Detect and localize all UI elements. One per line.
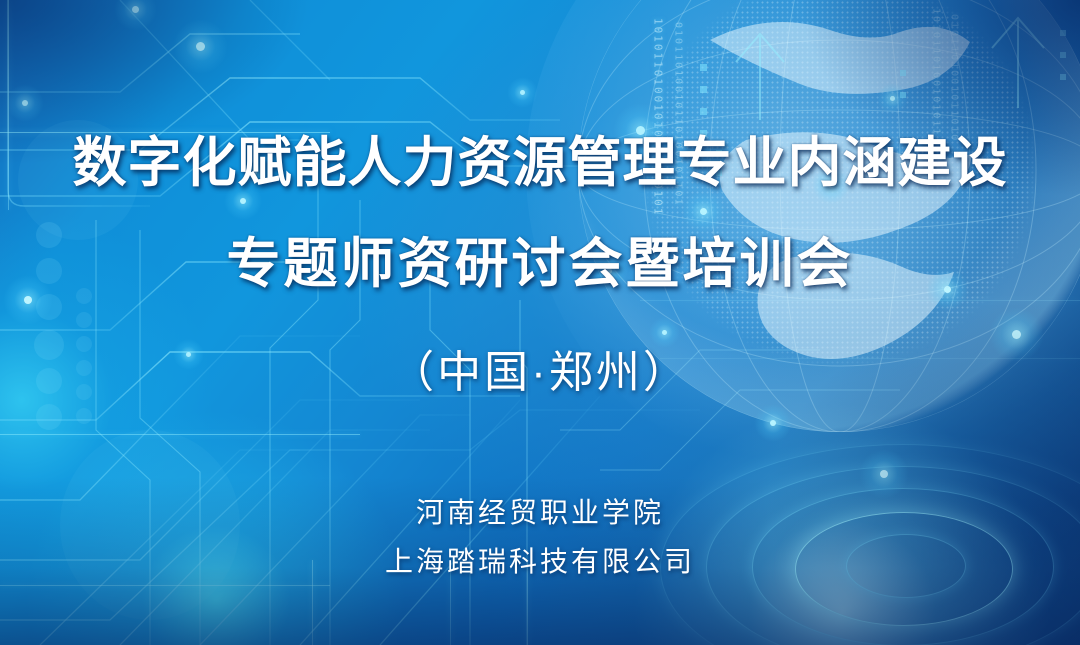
- location-subtitle: （中国·郑州）: [0, 347, 1080, 399]
- organizer-school: 河南经贸职业学院: [0, 496, 1080, 530]
- title-line-1: 数字化赋能人力资源管理专业内涵建设: [0, 133, 1080, 193]
- organizer-company: 上海踏瑞科技有限公司: [0, 545, 1080, 579]
- conference-banner: 10101101001010110100101 0101101001011010…: [0, 0, 1080, 645]
- title-line-2: 专题师资研讨会暨培训会: [0, 234, 1080, 294]
- banner-text-content: 数字化赋能人力资源管理专业内涵建设 专题师资研讨会暨培训会 （中国·郑州） 河南…: [0, 0, 1080, 645]
